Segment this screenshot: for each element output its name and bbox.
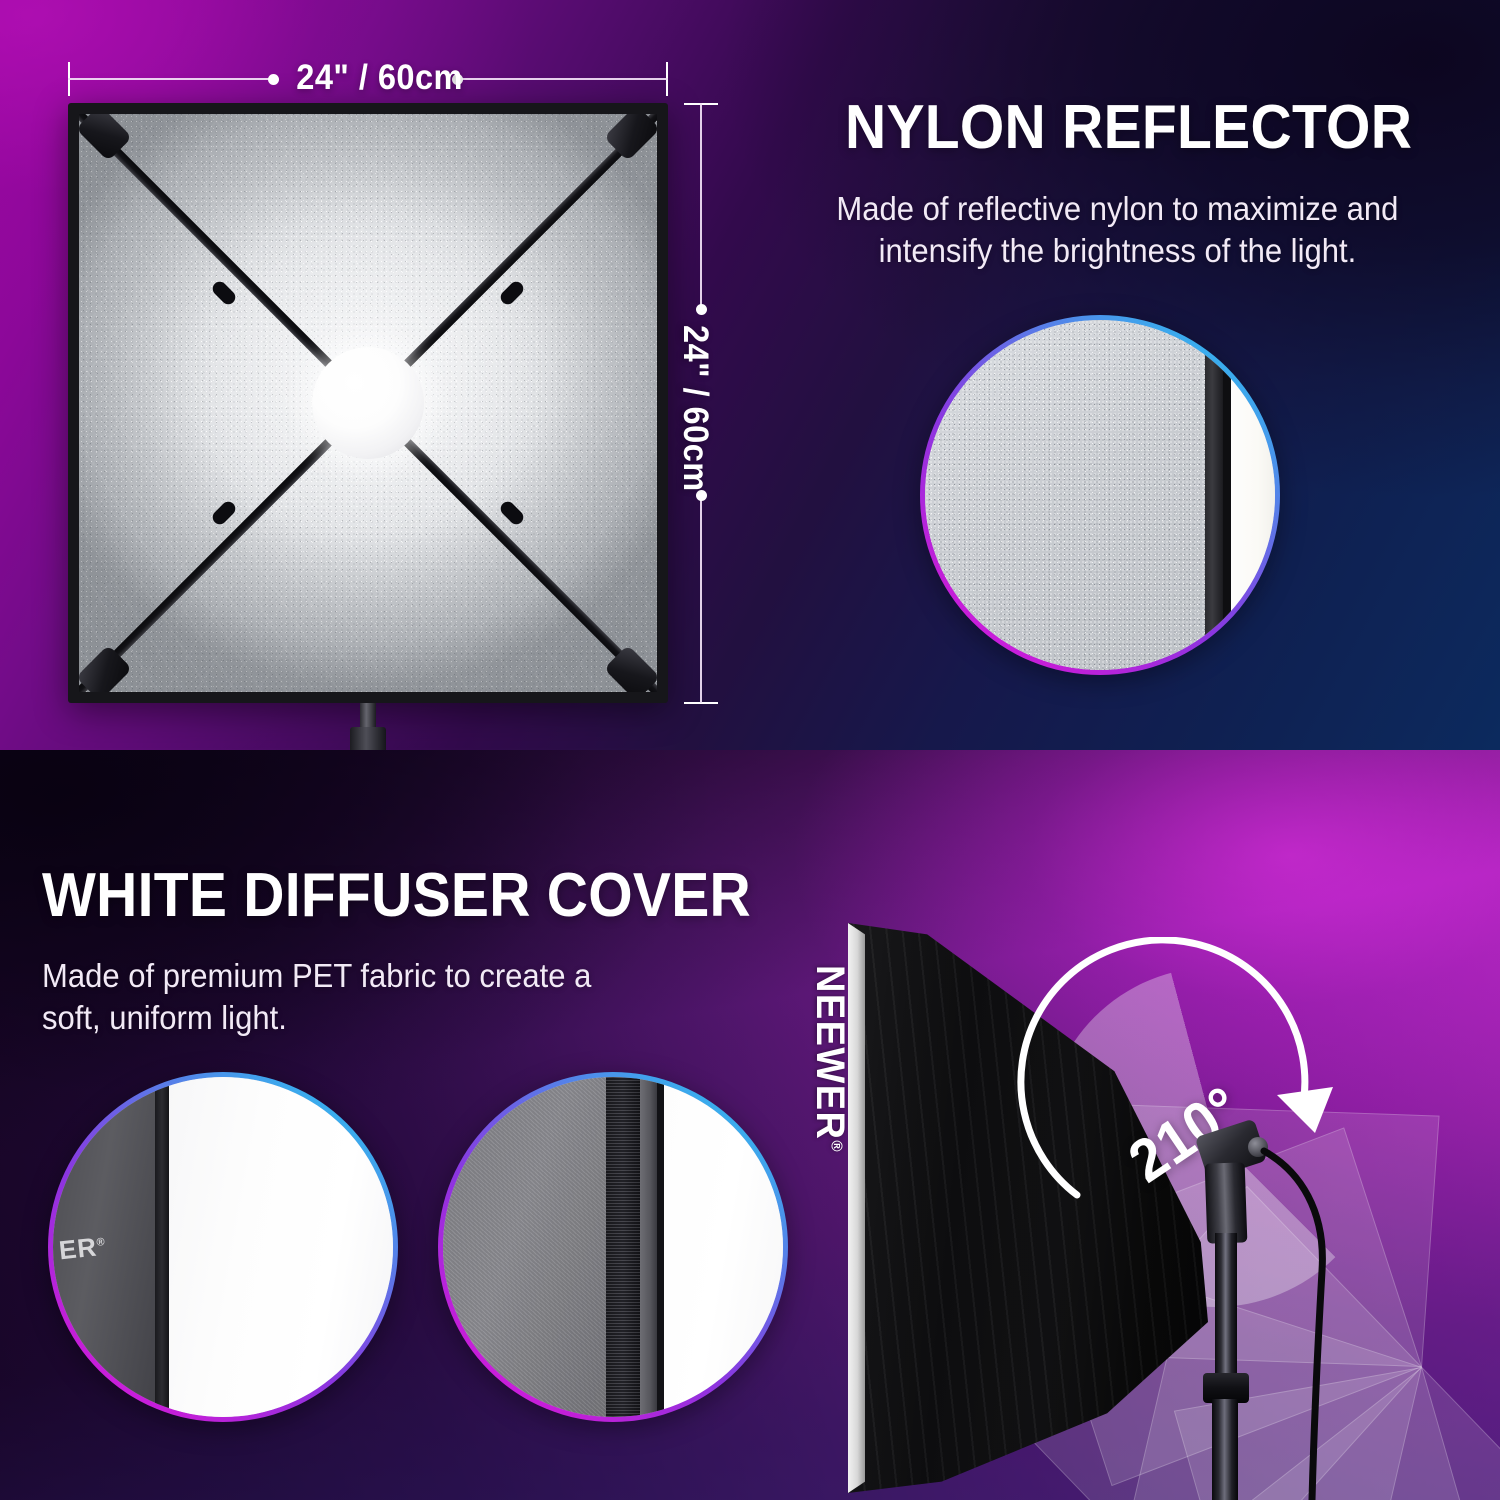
- nylon-silver-surface: [925, 320, 1205, 670]
- infographic-page: 24" / 60cm 24" / 60cm NYLON REFLECTOR Ma…: [0, 0, 1500, 1500]
- dim-line-horizontal-right: [462, 78, 668, 80]
- description-diffuser: Made of premium PET fabric to create a s…: [42, 955, 644, 1038]
- softbox-mount-block: [350, 727, 386, 750]
- detail-circle-nylon-content: [925, 320, 1275, 670]
- description-nylon: Made of reflective nylon to maximize and…: [826, 188, 1409, 271]
- detail-circle-velcro: [438, 1072, 788, 1422]
- softbox-edge-line: [155, 1077, 169, 1417]
- dimension-label-height: 24" / 60cm: [675, 325, 715, 492]
- detail-circle-diffuser-front: ER®: [48, 1072, 398, 1422]
- pet-diffuser-surface: [169, 1077, 393, 1417]
- dim-line-horizontal-left: [68, 78, 272, 80]
- softbox-fabric-side: [443, 1077, 606, 1417]
- detail-circle-velcro-content: [443, 1077, 783, 1417]
- power-cable: [1230, 1145, 1360, 1500]
- softbox-seam: [640, 1077, 657, 1417]
- softbox-edge-dark: [1223, 320, 1232, 670]
- softbox-rotation-scene: NEEWER® 210°: [760, 755, 1500, 1500]
- detail-circle-nylon: [920, 315, 1280, 675]
- softbox-rim-line: [657, 1077, 664, 1417]
- neewer-logo-partial: ER®: [58, 1231, 108, 1267]
- dim-line-vertical-top: [700, 103, 702, 308]
- dim-dot-left: [268, 74, 279, 85]
- softbox-edge-strip: [1205, 320, 1223, 670]
- diffuser-white-edge: [1231, 320, 1275, 670]
- velcro-strip: [606, 1077, 640, 1417]
- panel-nylon-reflector: 24" / 60cm 24" / 60cm NYLON REFLECTOR Ma…: [0, 0, 1500, 750]
- neewer-brand-logo: NEEWER®: [807, 965, 852, 1153]
- page-title-nylon: NYLON REFLECTOR: [845, 97, 1412, 159]
- softbox-reflector-face: [79, 114, 657, 692]
- softbox-front-view: [68, 103, 668, 703]
- dim-line-vertical-bottom: [700, 500, 702, 703]
- dim-dot-top: [696, 304, 707, 315]
- led-bulb: [312, 347, 424, 459]
- detail-circle-diffuser-front-content: ER®: [53, 1077, 393, 1417]
- dimension-label-width: 24" / 60cm: [296, 58, 463, 98]
- page-title-diffuser: WHITE DIFFUSER COVER: [42, 865, 751, 927]
